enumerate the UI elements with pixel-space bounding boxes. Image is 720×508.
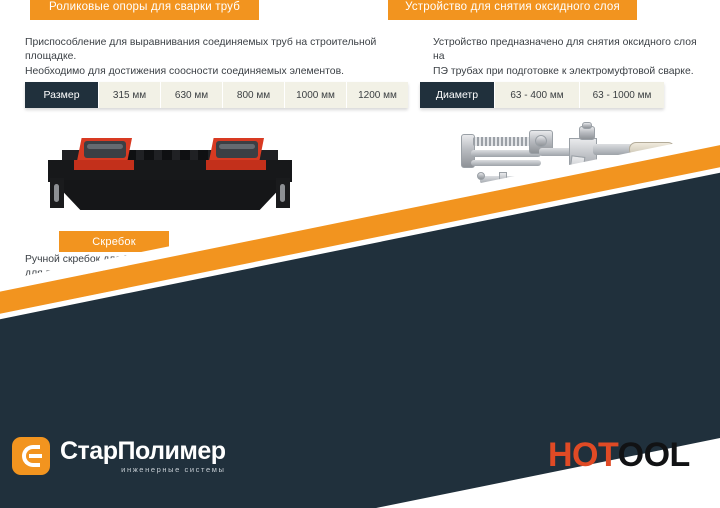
section-body-roller-supports: Приспособление для выравнивания соединяе… [25, 36, 429, 79]
spec-table-roller-supports: Размер 315 мм 630 мм 800 мм 1000 мм 1200… [25, 82, 408, 108]
body-line: Необходимо для достижения соосности соед… [25, 65, 429, 79]
brand-tagline: инженерные системы [60, 465, 226, 474]
section-title-roller-supports: Роликовые опоры для сварки труб [30, 0, 259, 20]
spec-cell: 63 - 1000 мм [579, 82, 664, 108]
brand-name: СтарПолимер [60, 438, 226, 464]
avito-watermark-text: Avito [627, 480, 667, 500]
spec-cell: 1000 мм [284, 82, 346, 108]
spec-cell: 315 мм [98, 82, 160, 108]
roller-support-photo [40, 126, 300, 214]
spec-table-header: Диаметр [420, 82, 494, 108]
body-line: Приспособление для выравнивания соединяе… [25, 36, 429, 65]
hotool-logo-part1: HOT [548, 436, 618, 474]
avito-watermark: Avito [606, 480, 667, 500]
spec-cell: 1200 мм [346, 82, 408, 108]
spec-table-oxide-remover: Диаметр 63 - 400 мм 63 - 1000 мм [420, 82, 664, 108]
starpolymer-euro-mark-icon [12, 437, 50, 475]
spec-cell: 630 мм [160, 82, 222, 108]
starpolymer-logo: СтарПолимер инженерные системы [12, 437, 226, 475]
body-line: Устройство предназначено для снятия окси… [433, 36, 709, 65]
spec-table-header: Размер [25, 82, 98, 108]
spec-cell: 63 - 400 мм [494, 82, 579, 108]
hotool-logo-part2: OOL [618, 436, 690, 474]
flyer-page: Роликовые опоры для сварки труб Приспосо… [0, 0, 720, 508]
section-body-oxide-remover: Устройство предназначено для снятия окси… [433, 36, 709, 79]
section-title-oxide-remover: Устройство для снятия оксидного слоя [388, 0, 637, 20]
avito-dots-icon [606, 483, 624, 498]
spec-cell: 800 мм [222, 82, 284, 108]
body-line: ПЭ трубах при подготовке к электромуфтов… [433, 65, 709, 79]
hotool-logo: HOTOOL [548, 436, 690, 475]
